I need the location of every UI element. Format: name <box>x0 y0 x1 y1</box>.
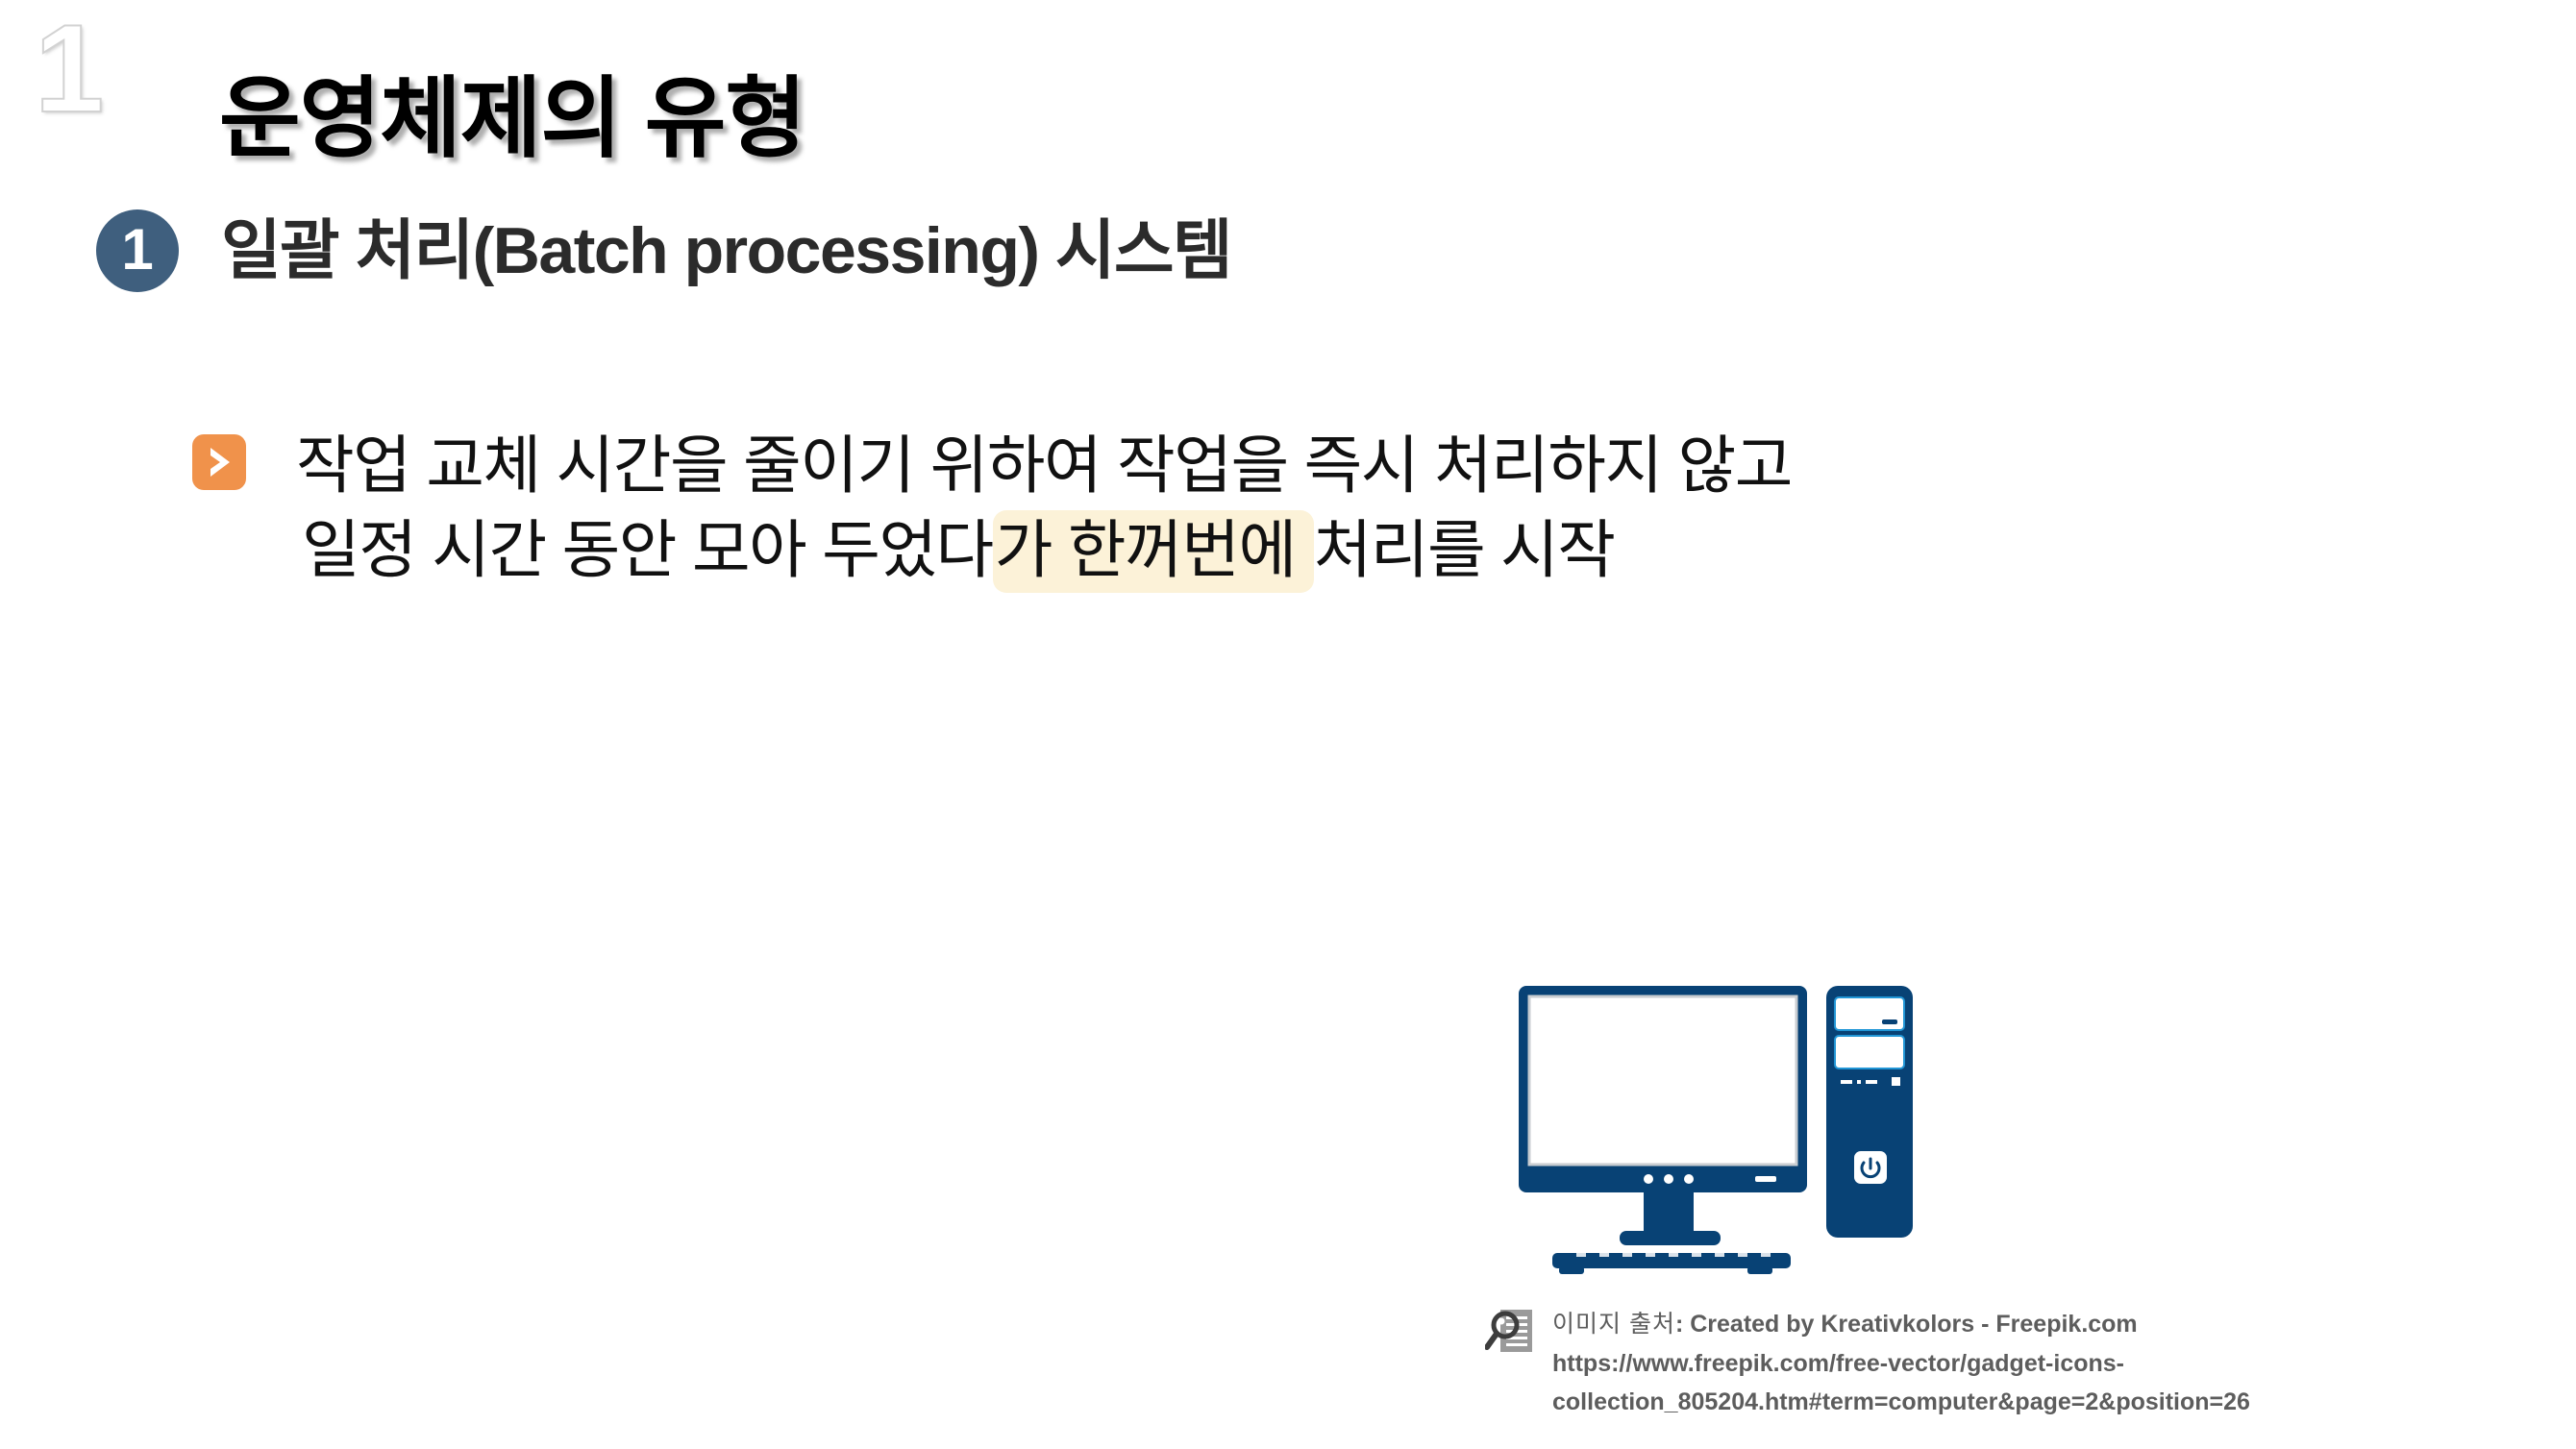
body-line-1: 작업 교체 시간을 줄이기 위하여 작업을 즉시 처리하지 않고 <box>296 423 1792 507</box>
subtitle-text: 일괄 처리(Batch processing) 시스템 <box>221 218 1231 283</box>
numbered-badge: 1 <box>96 209 179 292</box>
credit-label: 이미지 출처 <box>1552 1311 1675 1338</box>
credit-url-line-2: collection_805204.htm#term=computer&page… <box>1552 1383 2250 1422</box>
body-line-2-highlight: 가 한꺼번에 <box>993 510 1314 593</box>
body-text: 작업 교체 시간을 줄이기 위하여 작업을 즉시 처리하지 않고 일정 시간 동… <box>296 423 1792 593</box>
credit-line-1: 이미지 출처: Created by Kreativkolors - Freep… <box>1552 1305 2250 1344</box>
desktop-computer-icon <box>1499 980 1961 1278</box>
image-credit-block: 이미지 출처: Created by Kreativkolors - Freep… <box>1485 1305 2250 1422</box>
credit-source: : Created by Kreativkolors - Freepik.com <box>1675 1311 2138 1338</box>
body-line-2-before: 일정 시간 동안 모아 두었다 <box>302 514 993 585</box>
credit-text: 이미지 출처: Created by Kreativkolors - Freep… <box>1552 1305 2250 1422</box>
chevron-right-icon <box>192 434 246 490</box>
credit-url-line-1: https://www.freepik.com/free-vector/gadg… <box>1552 1344 2250 1384</box>
body-line-2: 일정 시간 동안 모아 두었다가 한꺼번에 처리를 시작 <box>296 507 1792 592</box>
body-line-2-after: 처리를 시작 <box>1314 514 1615 585</box>
document-search-icon <box>1485 1307 1537 1359</box>
slide-number-watermark: 1 <box>35 6 104 131</box>
page-title: 운영체제의 유형 <box>219 73 805 167</box>
body-bullet-row: 작업 교체 시간을 줄이기 위하여 작업을 즉시 처리하지 않고 일정 시간 동… <box>192 423 1792 593</box>
subtitle-row: 1 일괄 처리(Batch processing) 시스템 <box>96 209 1231 292</box>
